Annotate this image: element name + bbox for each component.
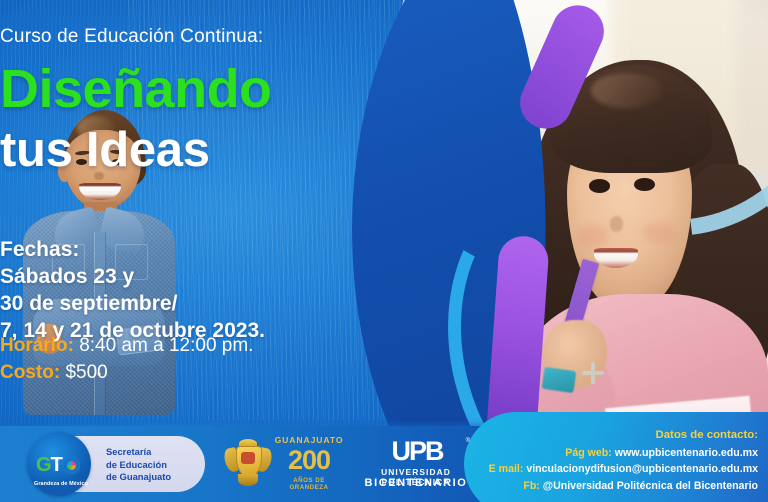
- coat-base-ornament: [238, 474, 258, 486]
- dates-line-2: 30 de septiembre/: [0, 290, 520, 317]
- contact-fb-label: Fb:: [523, 480, 539, 492]
- course-kicker: Curso de Educación Continua:: [0, 26, 520, 48]
- contact-web-value[interactable]: www.upbicentenario.edu.mx: [615, 447, 758, 459]
- cost-label: Costo:: [0, 362, 60, 383]
- contact-fb-value[interactable]: @Universidad Politécnica del Bicentenari…: [543, 480, 758, 492]
- dates-line-1: Sábados 23 y: [0, 263, 520, 290]
- gto-wordmark: GT: [36, 454, 84, 476]
- guanajuato-200-logo: GUANAJUATO 200 AÑOS DE GRANDEZA: [222, 433, 344, 493]
- schedule-value: 8:40 am a 12:00 pm.: [79, 335, 253, 356]
- poster-title-line1: Diseñando: [0, 62, 520, 116]
- schedule-label: Horário:: [0, 335, 74, 356]
- contact-email-label: E mail:: [489, 463, 524, 475]
- secretaria-text: Secretaría de Educación de Guanajuato: [106, 446, 202, 484]
- dates-block: Fechas: Sábados 23 y 30 de septiembre/ 7…: [0, 236, 520, 344]
- cost-row: Costo: $500: [0, 360, 520, 387]
- gto-letter-o-icon: [63, 457, 80, 474]
- coat-of-arms-icon: [224, 438, 272, 488]
- poster-root: Curso de Educación Continua: Diseñando t…: [0, 0, 768, 502]
- gto-tagline: Grandeza de México: [26, 481, 96, 487]
- secretaria-line-3: de Guanajuato: [106, 471, 202, 484]
- schedule-row: Horário: 8:40 am a 12:00 pm.: [0, 333, 520, 360]
- cost-value: $500: [65, 362, 107, 383]
- contact-web-row: Pág web: www.upbicentenario.edu.mx: [328, 445, 758, 461]
- footer-bar: GT Grandeza de México Secretaría de Educ…: [0, 426, 768, 502]
- info-block: Horário: 8:40 am a 12:00 pm. Costo: $500: [0, 333, 520, 387]
- contact-block: Datos de contacto: Pág web: www.upbicent…: [328, 427, 758, 494]
- gto-letter-g: G: [36, 454, 51, 476]
- poster-title-line2: tus Ideas: [0, 126, 520, 175]
- contact-email-value[interactable]: vinculacionydifusion@upbicentenario.edu.…: [526, 463, 758, 475]
- secretaria-line-2: de Educación: [106, 459, 202, 472]
- dates-heading: Fechas:: [0, 236, 520, 263]
- contact-fb-row: Fb: @Universidad Politécnica del Bicente…: [328, 478, 758, 494]
- coat-shield-charge: [241, 452, 255, 464]
- contact-email-row: E mail: vinculacionydifusion@upbicentena…: [328, 461, 758, 477]
- contact-title: Datos de contacto:: [328, 427, 758, 445]
- secretaria-line-1: Secretaría: [106, 446, 202, 459]
- gto-letter-t: T: [51, 454, 62, 476]
- contact-web-label: Pág web:: [565, 447, 612, 459]
